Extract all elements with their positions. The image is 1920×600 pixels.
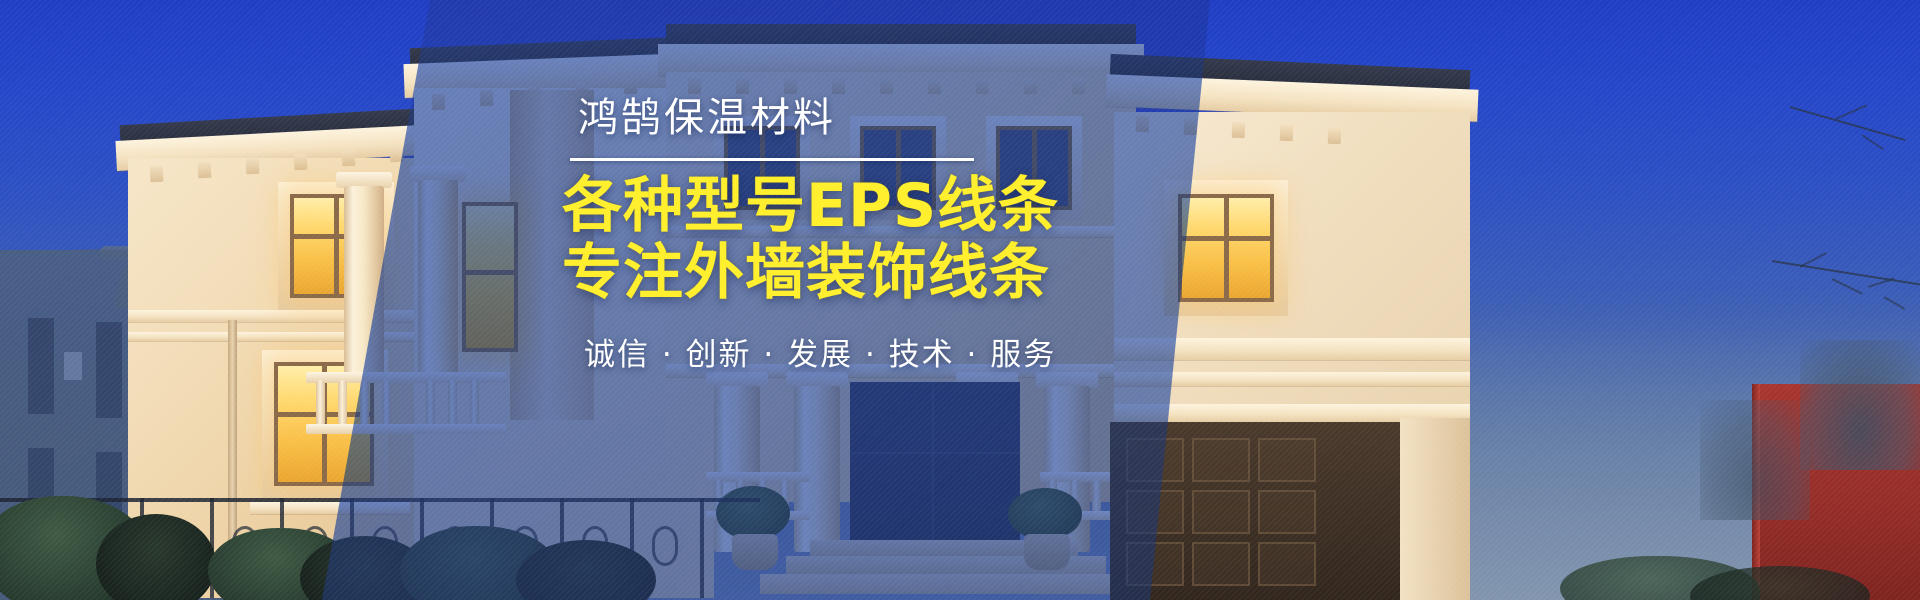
brand-name: 鸿鹄保温材料 xyxy=(562,96,1032,140)
tree-mass xyxy=(1800,340,1920,470)
garage-panel xyxy=(1258,490,1316,534)
window-mullion-vertical xyxy=(334,194,339,298)
garage-panel xyxy=(1192,542,1250,586)
window-mullion-vertical xyxy=(1224,194,1229,302)
dentil xyxy=(1280,125,1294,141)
dentil xyxy=(198,162,212,179)
tree-mass xyxy=(1700,400,1810,520)
baluster xyxy=(338,380,347,426)
garage-panel xyxy=(1258,438,1316,482)
dentil xyxy=(342,150,356,167)
headline-line-2: 专注外墙装饰线条 xyxy=(562,242,1032,305)
garage-panel xyxy=(1258,542,1316,586)
dentil xyxy=(294,154,308,171)
dentil xyxy=(150,166,164,183)
background-window-lit xyxy=(64,352,82,380)
banner-copy-block: 鸿鹄保温材料 各种型号EPS线条 专注外墙装饰线条 诚信 · 创新 · 发展 ·… xyxy=(562,96,1032,374)
garage-panel xyxy=(1192,490,1250,534)
headline-line-1: 各种型号EPS线条 xyxy=(562,175,1032,238)
dentil xyxy=(246,158,260,175)
window-mullion-horizontal xyxy=(1178,236,1274,241)
title-divider xyxy=(570,158,974,161)
hero-banner: 鸿鹄保温材料 各种型号EPS线条 专注外墙装饰线条 诚信 · 创新 · 发展 ·… xyxy=(0,0,1920,600)
dentil xyxy=(1328,128,1342,144)
garage-panel xyxy=(1192,438,1250,482)
baluster xyxy=(316,380,325,426)
dentil xyxy=(1232,122,1246,138)
background-window xyxy=(28,318,54,414)
facade-right-return xyxy=(1400,418,1470,600)
tagline: 诚信 · 创新 · 发展 · 技术 · 服务 xyxy=(562,329,1032,374)
